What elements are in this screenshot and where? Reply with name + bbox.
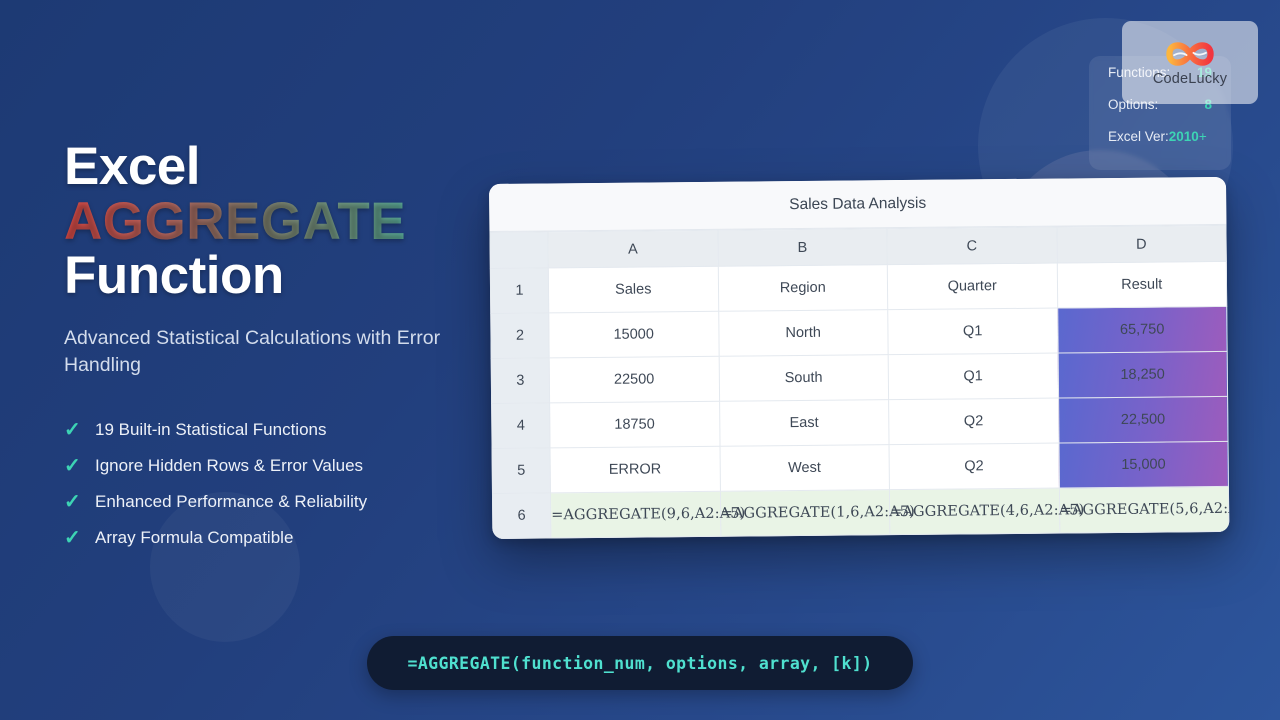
row-number[interactable]: 5 bbox=[492, 448, 550, 494]
list-item: ✓ Enhanced Performance & Reliability bbox=[64, 484, 484, 520]
table-row: 4 18750 East Q2 22,500 bbox=[492, 396, 1228, 448]
cell-c4[interactable]: Q2 bbox=[889, 398, 1059, 445]
cell-b3[interactable]: South bbox=[719, 355, 889, 402]
table-row: 5 ERROR West Q2 15,000 bbox=[492, 441, 1228, 493]
cell-a1[interactable]: Sales bbox=[548, 266, 718, 313]
title-line-function: Function bbox=[64, 249, 484, 304]
row-number[interactable]: 6 bbox=[492, 493, 550, 539]
column-header-a[interactable]: A bbox=[548, 230, 718, 268]
page-subtitle: Advanced Statistical Calculations with E… bbox=[64, 325, 454, 380]
check-icon: ✓ bbox=[64, 456, 80, 476]
formula-row: 6 =AGGREGATE(9,6,A2:A5) =AGGREGATE(1,6,A… bbox=[492, 486, 1228, 538]
syntax-bar: =AGGREGATE(function_num, options, array,… bbox=[367, 636, 913, 690]
row-number[interactable]: 2 bbox=[491, 313, 549, 359]
spreadsheet-card: Sales Data Analysis A B C D 1 Sales Regi… bbox=[489, 177, 1229, 539]
badge-row-version: Excel Ver: 2010 + bbox=[1089, 129, 1231, 161]
page-title: Excel AGGREGATE Function bbox=[64, 140, 484, 304]
cell-b4[interactable]: East bbox=[719, 400, 889, 447]
list-item: ✓ Array Formula Compatible bbox=[64, 520, 484, 556]
spreadsheet-title: Sales Data Analysis bbox=[489, 177, 1226, 232]
cell-d3-result[interactable]: 18,250 bbox=[1058, 351, 1228, 398]
cell-a3[interactable]: 22500 bbox=[549, 356, 719, 403]
row-number[interactable]: 3 bbox=[491, 358, 549, 404]
syntax-text: =AGGREGATE(function_num, options, array,… bbox=[407, 654, 872, 673]
cell-c5[interactable]: Q2 bbox=[889, 443, 1059, 490]
check-icon: ✓ bbox=[64, 492, 80, 512]
feature-label: Enhanced Performance & Reliability bbox=[95, 492, 367, 512]
feature-label: Ignore Hidden Rows & Error Values bbox=[95, 456, 363, 476]
row-number[interactable]: 4 bbox=[492, 403, 550, 449]
cell-c1[interactable]: Quarter bbox=[887, 263, 1057, 310]
cell-d1[interactable]: Result bbox=[1057, 261, 1227, 308]
title-line-aggregate: AGGREGATE bbox=[64, 195, 484, 250]
cell-b2[interactable]: North bbox=[718, 310, 888, 357]
cell-b1[interactable]: Region bbox=[718, 265, 888, 312]
corner-cell bbox=[490, 232, 548, 269]
cell-a2[interactable]: 15000 bbox=[549, 311, 719, 358]
cell-c2[interactable]: Q1 bbox=[888, 308, 1058, 355]
formula-cell-b6[interactable]: =AGGREGATE(1,6,A2:A5) bbox=[720, 490, 890, 537]
list-item: ✓ Ignore Hidden Rows & Error Values bbox=[64, 448, 484, 484]
formula-cell-a6[interactable]: =AGGREGATE(9,6,A2:A5) bbox=[550, 491, 720, 538]
feature-label: Array Formula Compatible bbox=[95, 528, 293, 548]
row-number[interactable]: 1 bbox=[490, 268, 548, 314]
badge-value-version-suffix: + bbox=[1199, 129, 1207, 144]
badge-value-version: 2010 bbox=[1169, 129, 1199, 144]
feature-label: 19 Built-in Statistical Functions bbox=[95, 420, 327, 440]
check-icon: ✓ bbox=[64, 420, 80, 440]
column-header-c[interactable]: C bbox=[887, 227, 1057, 265]
formula-cell-d6[interactable]: =AGGREGATE(5,6,A2:A5) bbox=[1059, 486, 1229, 533]
spreadsheet-table: A B C D 1 Sales Region Quarter Result 2 … bbox=[489, 225, 1229, 539]
cell-c3[interactable]: Q1 bbox=[888, 353, 1058, 400]
formula-cell-c6[interactable]: =AGGREGATE(4,6,A2:A5) bbox=[889, 488, 1059, 535]
check-icon: ✓ bbox=[64, 528, 80, 548]
title-line-excel: Excel bbox=[64, 140, 484, 195]
hero-section: Excel AGGREGATE Function Advanced Statis… bbox=[64, 140, 484, 556]
cell-d4-result[interactable]: 22,500 bbox=[1058, 396, 1228, 443]
cell-b5[interactable]: West bbox=[720, 445, 890, 492]
feature-list: ✓ 19 Built-in Statistical Functions ✓ Ig… bbox=[64, 412, 484, 556]
cell-a5[interactable]: ERROR bbox=[550, 446, 720, 493]
table-row: 3 22500 South Q1 18,250 bbox=[491, 351, 1227, 403]
table-row: 2 15000 North Q1 65,750 bbox=[491, 306, 1227, 358]
column-header-b[interactable]: B bbox=[717, 229, 887, 267]
table-row: 1 Sales Region Quarter Result bbox=[490, 261, 1226, 313]
badge-key-version: Excel Ver: bbox=[1108, 129, 1169, 144]
cell-d2-result[interactable]: 65,750 bbox=[1057, 306, 1227, 353]
watermark: CodeLucky bbox=[1122, 21, 1258, 104]
infinity-logo-icon bbox=[1161, 38, 1219, 70]
cell-a4[interactable]: 18750 bbox=[550, 401, 720, 448]
list-item: ✓ 19 Built-in Statistical Functions bbox=[64, 412, 484, 448]
cell-d5-result[interactable]: 15,000 bbox=[1059, 441, 1229, 488]
watermark-text: CodeLucky bbox=[1153, 71, 1227, 87]
column-header-d[interactable]: D bbox=[1056, 225, 1226, 263]
